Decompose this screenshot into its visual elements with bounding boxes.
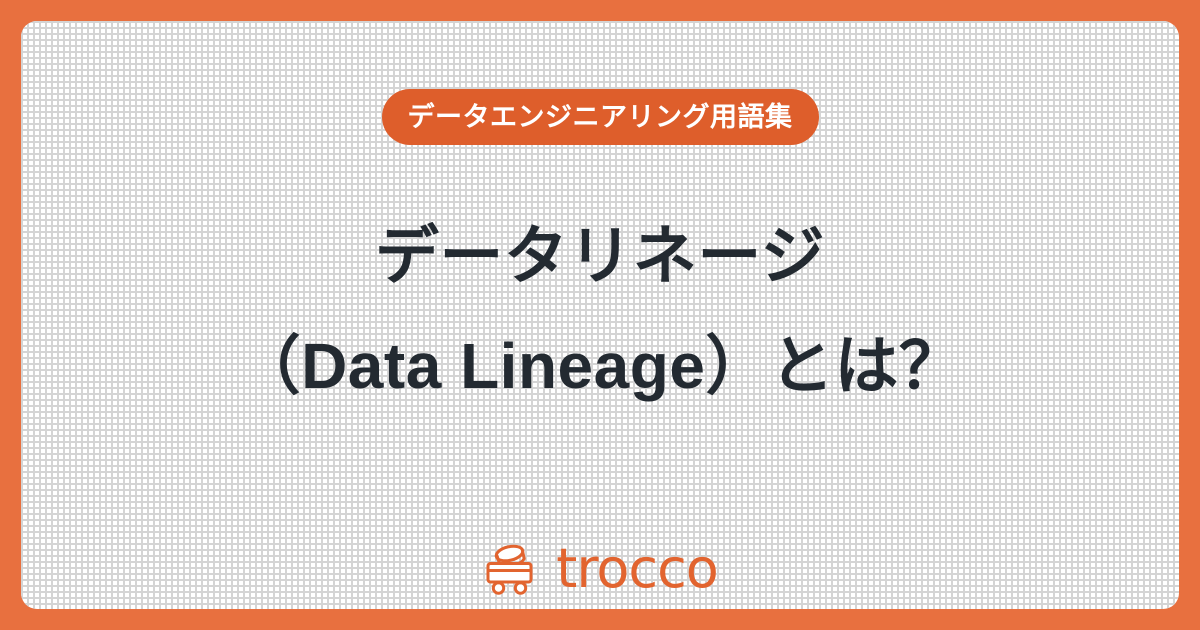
- page-title-line-1: データリネージ: [237, 201, 964, 311]
- trocco-wordmark: trocco: [556, 542, 718, 596]
- content-card: データエンジニアリング用語集 データリネージ （Data Lineage）とは？: [21, 21, 1179, 609]
- category-badge: データエンジニアリング用語集: [382, 89, 819, 145]
- page-title: データリネージ （Data Lineage）とは？: [237, 201, 964, 421]
- brand-logo: trocco: [21, 542, 1179, 596]
- card-content: データエンジニアリング用語集 データリネージ （Data Lineage）とは？: [21, 21, 1179, 609]
- og-card-frame: データエンジニアリング用語集 データリネージ （Data Lineage）とは？: [0, 0, 1200, 630]
- trocco-cart-icon: [482, 543, 540, 595]
- page-title-line-2: （Data Lineage）とは？: [237, 311, 964, 421]
